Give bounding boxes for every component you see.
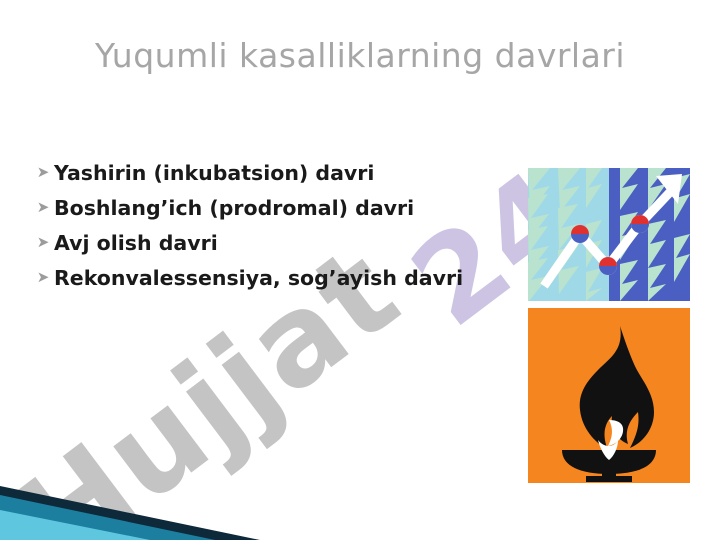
bullet-arrow-icon: ➤ [32,158,54,188]
corner-decoration [0,450,260,540]
bullet-text: Yashirin (inkubatsion) davri [54,158,374,188]
bullet-arrow-icon: ➤ [32,263,54,293]
list-item: ➤ Avj olish davri [32,228,512,258]
list-item: ➤ Boshlang’ich (prodromal) davri [32,193,512,223]
fire-hazard-image [528,308,690,483]
list-item: ➤ Yashirin (inkubatsion) davri [32,158,512,188]
slide-title: Yuqumli kasalliklarning davrlari [0,36,720,75]
chart-growth-image [528,168,690,301]
slide: Hujjat 24 Yuqumli kasalliklarning davrla… [0,0,720,540]
bullet-text: Boshlang’ich (prodromal) davri [54,193,414,223]
bullet-text: Rekonvalessensiya, sog’ayish davri [54,263,463,293]
bullet-arrow-icon: ➤ [32,228,54,258]
list-item: ➤ Rekonvalessensiya, sog’ayish davri [32,263,512,293]
bullet-arrow-icon: ➤ [32,193,54,223]
bullet-text: Avj olish davri [54,228,218,258]
bullet-list: ➤ Yashirin (inkubatsion) davri ➤ Boshlan… [32,158,512,298]
